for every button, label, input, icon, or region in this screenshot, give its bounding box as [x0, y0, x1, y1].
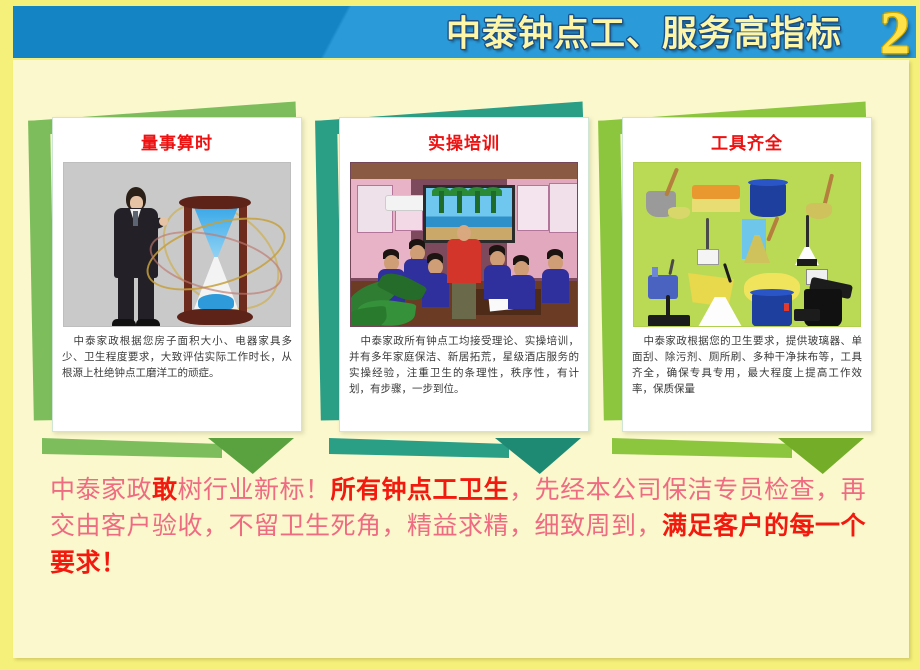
mop-head-icon: [668, 207, 690, 219]
card-1-bottom-wedges: [40, 436, 316, 476]
feature-card-list: 量事算时: [0, 104, 920, 454]
bottom-slogan: 中泰家政敢树行业新标！所有钟点工卫生，先经本公司保洁专员检查，再交由客户验收，不…: [50, 472, 880, 581]
palm-trunk: [491, 191, 496, 213]
feature-card-2[interactable]: 实操培训: [327, 104, 603, 454]
hourglass-cap-top: [179, 196, 251, 209]
classroom-ceiling: [351, 163, 577, 179]
trainer-red-shirt: [447, 239, 481, 283]
card-2-face: 实操培训: [339, 117, 589, 432]
spray-nozzle-icon: [652, 267, 658, 277]
student-uniform: [484, 265, 511, 299]
bucket-rim: [748, 179, 788, 186]
plant-leaf: [350, 306, 388, 327]
bucket-label: [784, 303, 789, 311]
student-uniform: [542, 269, 569, 303]
card-3-photo: [633, 162, 861, 327]
card-2-bottom-wedges: [327, 436, 603, 476]
person-hand: [159, 217, 168, 226]
student-uniform: [508, 275, 535, 309]
hourglass-cap-bottom: [177, 309, 253, 325]
wall-poster: [549, 183, 578, 233]
wedge-bar: [612, 438, 792, 458]
poster-root: 中泰钟点工、服务高指标 2 量事算时: [0, 0, 920, 670]
black-bin-icon: [804, 289, 842, 327]
slogan-segment-2: 敢: [152, 476, 178, 504]
string-mop-head-icon: [806, 203, 832, 219]
feature-card-1[interactable]: 量事算时: [40, 104, 316, 454]
palm-trunk: [439, 191, 444, 213]
scrub-brush-body-icon: [692, 185, 740, 199]
scrub-brush-bristles-icon: [692, 199, 740, 212]
page-number-badge: 2: [880, 6, 910, 58]
trainer-legs: [452, 281, 476, 319]
card-2-photo: [350, 162, 578, 327]
person-tie: [133, 211, 138, 226]
card-3-face: 工具齐全: [622, 117, 872, 432]
wall-poster: [517, 185, 549, 231]
hand-brush-icon: [794, 309, 820, 321]
page-title: 中泰钟点工、服务高指标: [446, 6, 842, 56]
toilet-brush-handle-icon: [706, 218, 709, 250]
push-broom-head-icon: [648, 315, 690, 327]
wedge-bar: [329, 438, 509, 458]
toilet-brush-head-icon: [697, 249, 719, 265]
card-3-description: 中泰家政根据您的卫生要求，提供玻璃器、单面刮、除污剂、厕所刷、多种干净抹布等，工…: [623, 327, 871, 398]
card-2-description: 中泰家政所有钟点工均接受理论、实操培训，并有多年家庭保洁、新居拓荒，星级酒店服务…: [340, 327, 588, 398]
palm-trunk: [475, 191, 480, 213]
card-3-title: 工具齐全: [623, 129, 871, 154]
broom-handle-icon: [766, 216, 779, 242]
brush-handle-icon: [668, 259, 674, 275]
palm-trunk: [457, 191, 462, 213]
card-1-face: 量事算时: [52, 117, 302, 432]
broom-bristles-icon: [797, 259, 817, 266]
card-3-bottom-wedges: [610, 436, 886, 476]
card-1-photo: [63, 162, 291, 327]
blue-bucket-icon: [750, 183, 786, 217]
person-shoe-left: [112, 319, 136, 327]
hourglass-sand: [198, 294, 234, 309]
feature-card-3[interactable]: 工具齐全: [610, 104, 886, 454]
trainer-head: [457, 225, 471, 241]
card-1-description: 中泰家政根据您房子面积大小、电器家具多少、卫生程度要求，大致评估实际工作时长，从…: [53, 327, 301, 382]
person-shoe-right: [136, 319, 160, 327]
wedge-bar: [42, 438, 222, 458]
slogan-segment-3: 树行业新标！: [178, 476, 331, 504]
bucket-rim: [750, 289, 794, 296]
broom-handle-icon: [806, 215, 809, 249]
foreground-plant: [350, 260, 443, 327]
card-2-title: 实操培训: [340, 129, 588, 154]
header-banner: 中泰钟点工、服务高指标 2: [13, 6, 916, 58]
spray-bottle-set-icon: [648, 275, 678, 299]
slogan-segment-4: 所有钟点工卫生: [331, 476, 510, 504]
card-1-title: 量事算时: [53, 129, 301, 154]
slogan-segment-1: 中泰家政: [50, 476, 152, 504]
person-leg-left: [118, 275, 134, 323]
